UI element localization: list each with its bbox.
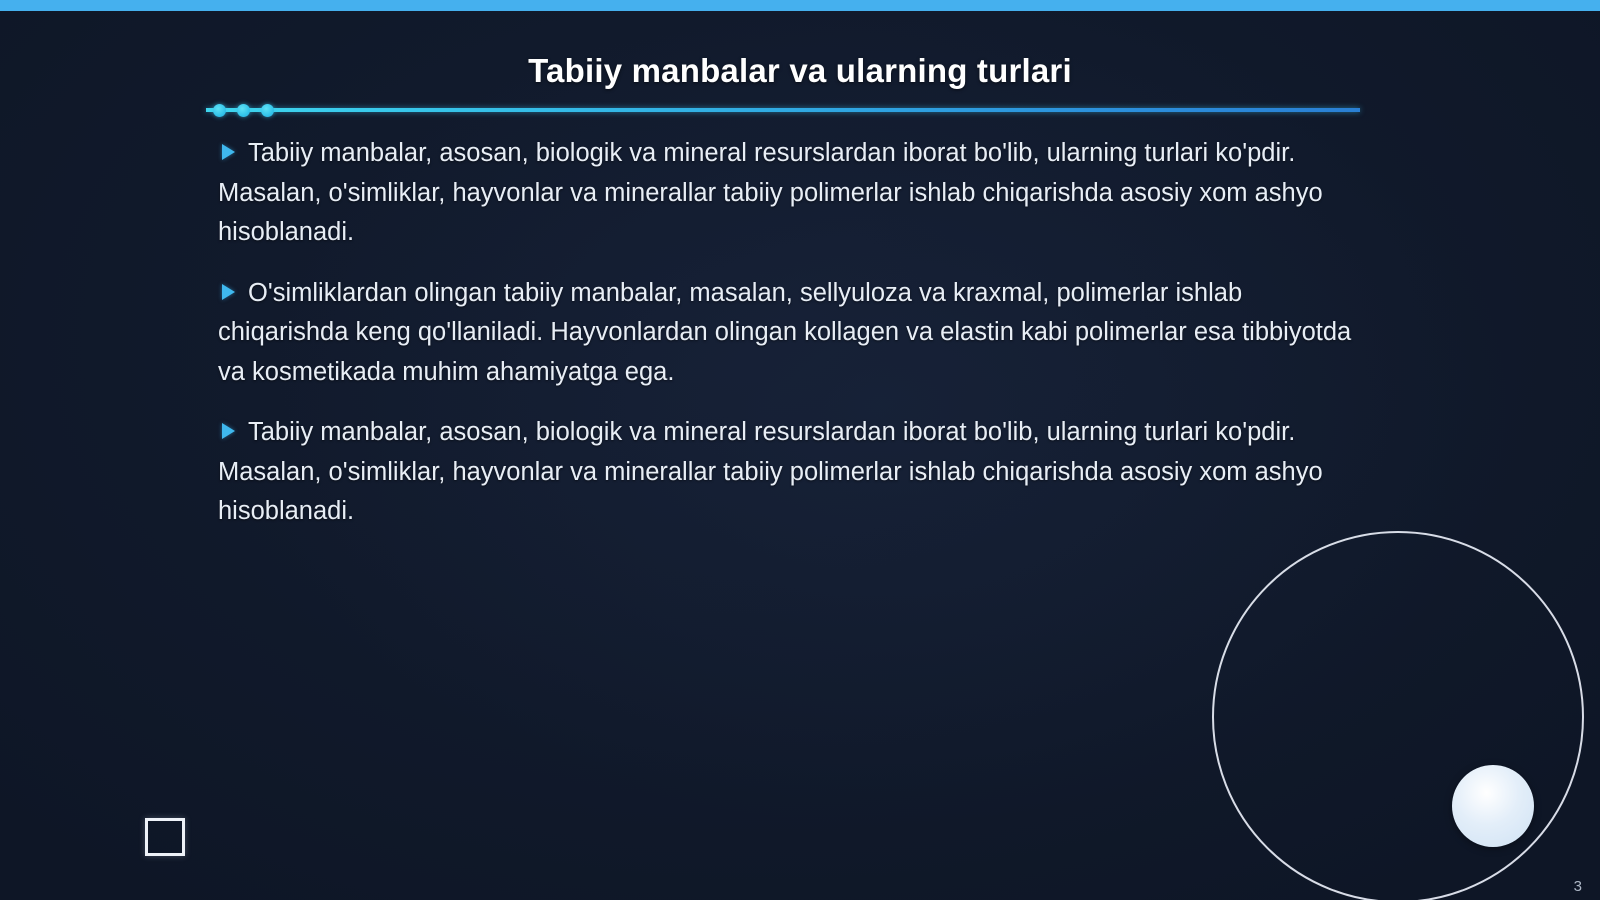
square-outline — [145, 818, 185, 856]
triangle-right-icon — [222, 423, 235, 439]
divider-dot-2 — [237, 104, 250, 117]
top-accent-bar — [0, 0, 1600, 11]
slide-title: Tabiiy manbalar va ularning turlari — [0, 52, 1600, 90]
bullet-paragraph-2: O'simliklardan olingan tabiiy manbalar, … — [218, 274, 1358, 393]
page-number: 3 — [1574, 878, 1582, 895]
large-ring-outline — [1212, 531, 1584, 900]
slide-body: Tabiiy manbalar, asosan, biologik va min… — [218, 134, 1358, 553]
divider-dot-3 — [261, 104, 274, 117]
small-filled-circle — [1452, 765, 1534, 847]
presentation-slide: Tabiiy manbalar va ularning turlari Tabi… — [0, 0, 1600, 900]
title-divider — [206, 104, 1360, 120]
paragraph-text-3: Tabiiy manbalar, asosan, biologik va min… — [218, 418, 1323, 525]
divider-line — [206, 108, 1360, 112]
bullet-paragraph-1: Tabiiy manbalar, asosan, biologik va min… — [218, 134, 1358, 253]
paragraph-text-1: Tabiiy manbalar, asosan, biologik va min… — [218, 139, 1323, 246]
triangle-right-icon — [222, 144, 235, 160]
divider-dot-1 — [213, 104, 226, 117]
bullet-paragraph-3: Tabiiy manbalar, asosan, biologik va min… — [218, 413, 1358, 532]
triangle-right-icon — [222, 284, 235, 300]
paragraph-text-2: O'simliklardan olingan tabiiy manbalar, … — [218, 279, 1351, 386]
